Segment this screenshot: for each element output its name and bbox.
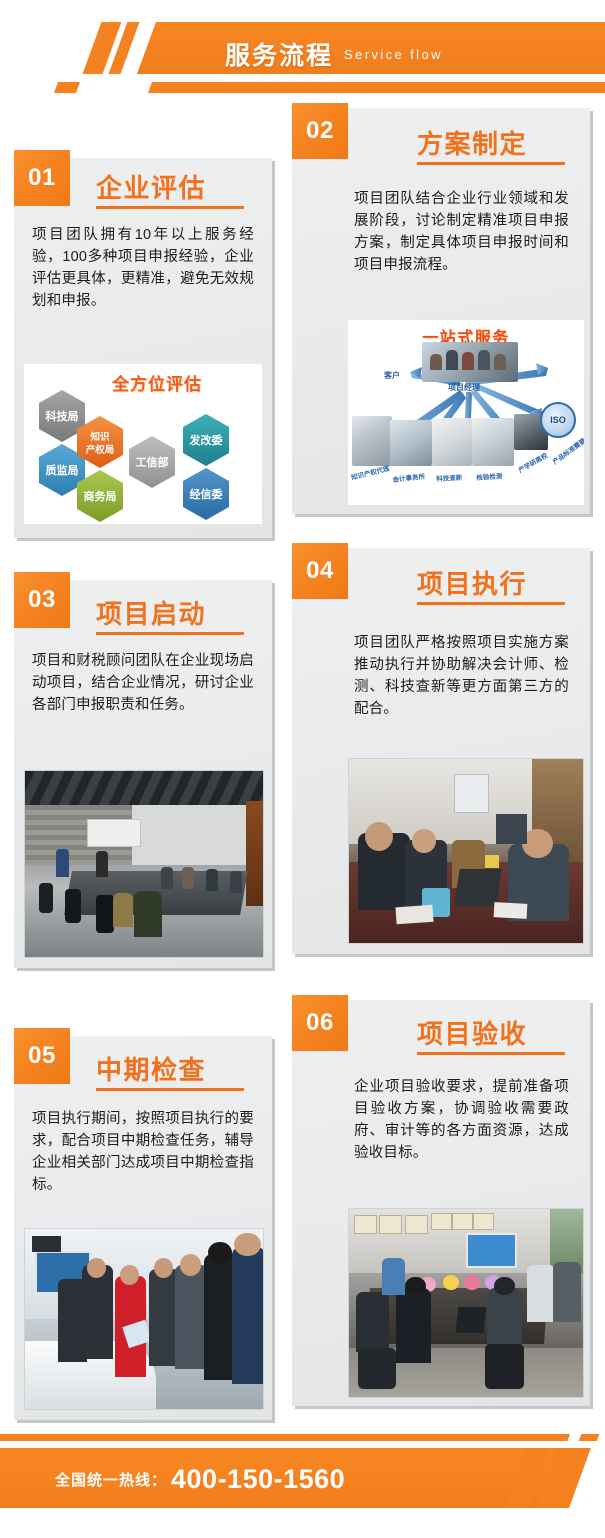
photo-head-red-coat [120,1265,139,1285]
step-card-02[interactable]: 02 方案制定 项目团队结合企业行业领域和发展阶段，讨论制定精准项目申报方案，制… [292,108,597,520]
step-number-badge: 06 [292,995,348,1051]
step-title: 中期检查 [96,1050,206,1087]
title-underline [417,1052,565,1055]
step-description: 项目团队拥有10年以上服务经验，100多种项目申报经验，企业评估更具体，更精准，… [32,224,254,312]
hotline-group: 全国统一热线： 400-150-1560 [55,1460,345,1498]
flow-person-3 [462,352,474,370]
photo-certificate-6 [473,1213,494,1230]
photo-head-visitor-6 [234,1233,260,1256]
photo-top-monitor [32,1236,61,1252]
page-footer: 全国统一热线： 400-150-1560 [0,1420,605,1538]
photo-head-visitor-4 [180,1254,201,1276]
photo-certificate-4 [431,1213,452,1230]
photo-flower-3 [464,1275,480,1290]
step-card-05[interactable]: 05 中期检查 项目执行期间，按照项目执行的要求，配合项目中期检查任务，辅导企业… [14,1036,279,1426]
photo-chair-back-1 [358,1348,395,1389]
photo-person-tan [113,893,133,927]
photo-attendee-left-1 [356,1292,389,1352]
step-number-badge: 02 [292,103,348,159]
page-subtitle: Service flow [344,47,443,62]
page-header: 服务流程 Service flow [0,0,605,112]
photo-ac-unit [454,774,489,813]
photo-certificate-3 [405,1215,428,1234]
svg-text:科技局: 科技局 [46,409,79,423]
footer-chevron-3 [579,1434,600,1441]
flow-node-customer: 客户 [384,370,400,381]
title-underline [417,602,565,605]
photo-acceptance-meeting [349,1209,583,1397]
hotline-label: 全国统一热线： [55,1469,167,1490]
footer-accent-line [0,1434,570,1441]
photo-head-visitor-5 [208,1242,232,1264]
step-title: 项目启动 [96,594,206,631]
photo-head-visitor-3 [154,1258,173,1278]
title-underline [417,162,565,165]
step-description: 企业项目验收要求，提前准备项目验收方案，协调验收需要政府、审计等的各方面资源，达… [354,1076,569,1164]
photo-site-visit [25,1229,263,1409]
step-number-badge: 05 [14,1028,70,1084]
photo-laptop-open [455,1307,486,1333]
photo-laptop-1 [454,869,501,906]
photo-attendee-blue [382,1258,405,1296]
photo-flower-2 [443,1275,459,1290]
svg-text:工信部: 工信部 [136,455,169,469]
photo-ceiling [25,771,263,805]
step-card-04[interactable]: 04 项目执行 项目团队严格按照项目实施方案推动执行并协助解决会计师、检测、科技… [292,548,597,960]
step-description: 项目团队严格按照项目实施方案推动执行并协助解决会计师、检测、科技查新等更方面第三… [354,632,569,720]
assessment-hex-diagram: 全方位评估 科技局 质监局 知识 产权局 商务局 [24,364,262,524]
page-title: 服务流程 [225,36,333,72]
photo-visitor-6 [232,1247,264,1384]
photo-attendee-white [527,1265,555,1321]
photo-person-green-jacket [134,891,162,937]
step-number-badge: 01 [14,150,70,206]
photo-wood-panel [246,801,263,906]
header-text-group: 服务流程 Service flow [225,33,595,75]
photo-white-wall [132,805,246,865]
step-title: 方案制定 [417,124,527,161]
header-banner-secondary [148,82,605,93]
photo-whiteboard [87,819,141,847]
svg-text:经信委: 经信委 [190,487,224,501]
flow-leaf-photo-3 [432,418,472,466]
photo-chair-2 [65,889,81,923]
step-photo-05 [24,1228,264,1410]
photo-certificate-5 [452,1213,473,1230]
header-chevron-3 [54,82,80,93]
step-number-badge: 04 [292,543,348,599]
photo-attendee-right [553,1262,581,1322]
photo-paper-2 [494,902,527,918]
step-title: 项目执行 [417,564,527,601]
photo-attendee-left-2 [396,1288,431,1363]
flow-leaf-photo-1 [352,416,392,466]
hotline-number[interactable]: 400-150-1560 [171,1464,345,1495]
photo-certificate-2 [379,1215,402,1234]
photo-visitor-7 [58,1279,87,1362]
step-number-badge: 03 [14,572,70,628]
step-title: 企业评估 [96,168,206,205]
flow-person-4 [478,350,490,370]
title-underline [96,206,244,209]
step-description: 项目执行期间，按照项目执行的要求，配合项目中期检查任务，辅导企业相关部门达成项目… [32,1108,254,1196]
photo-team-working [349,759,583,943]
flow-leaf-label-4: 检验检测 [476,470,503,482]
photo-person-4 [161,867,173,889]
svg-text:商务局: 商务局 [84,489,117,503]
step-card-03[interactable]: 03 项目启动 项目和财税顾问团队在企业现场启动项目，结合企业情况，研讨企业各部… [14,580,279,974]
svg-text:发改委: 发改委 [189,433,224,447]
step-description: 项目团队结合企业行业领域和发展阶段，讨论制定精准项目申报方案，制定具体项目申报时… [354,188,569,276]
svg-text:质监局: 质监局 [46,463,79,477]
photo-person-7 [230,871,242,893]
title-underline [96,1088,244,1091]
photo-person-standing [56,849,69,877]
title-underline [96,632,244,635]
flow-node-manager: 项目经理 [448,382,480,393]
flow-leaf-photo-4 [472,418,514,466]
photo-meeting-room-launch [25,771,263,957]
hex-diagram-title: 全方位评估 [112,370,202,395]
iso-seal-icon: ISO [540,402,576,438]
photo-person-presenter [96,851,108,877]
flow-person-1 [430,354,442,370]
photo-laptop-2 [496,814,526,843]
step-photo-03 [24,770,264,958]
photo-projector-screen [466,1233,517,1267]
step-card-06[interactable]: 06 项目验收 企业项目验收要求，提前准备项目验收方案，协调验收需要政府、审计等… [292,1000,597,1412]
photo-chair-1 [39,883,53,913]
step-description: 项目和财税顾问团队在企业现场启动项目，结合企业情况，研讨企业各部门申报职责和任务… [32,650,254,716]
svg-text:知识: 知识 [89,431,110,443]
photo-certificate-1 [354,1215,377,1234]
step-title: 项目验收 [417,1014,527,1051]
step-photo-04 [348,758,584,944]
flow-leaf-label-3: 科技查新 [436,472,462,483]
photo-person-5 [182,867,194,889]
flow-person-2 [446,350,458,370]
flow-person-5 [494,354,506,370]
photo-sticky-note [485,855,499,868]
photo-person-6 [206,869,218,891]
flow-leaf-photo-2 [390,420,432,466]
step-card-01[interactable]: 01 企业评估 项目团队拥有10年以上服务经验，100多种项目申报经验，企业评估… [14,158,279,544]
svg-text:产权局: 产权局 [86,444,115,456]
photo-head-visitor-1 [87,1258,106,1278]
photo-chair-3 [96,895,114,933]
photo-paper-1 [395,905,434,924]
photo-head-2 [412,829,435,853]
step-photo-06 [348,1208,584,1398]
one-stop-flow-diagram: 一站式服务 [348,320,584,505]
photo-chair-back-2 [485,1344,525,1389]
